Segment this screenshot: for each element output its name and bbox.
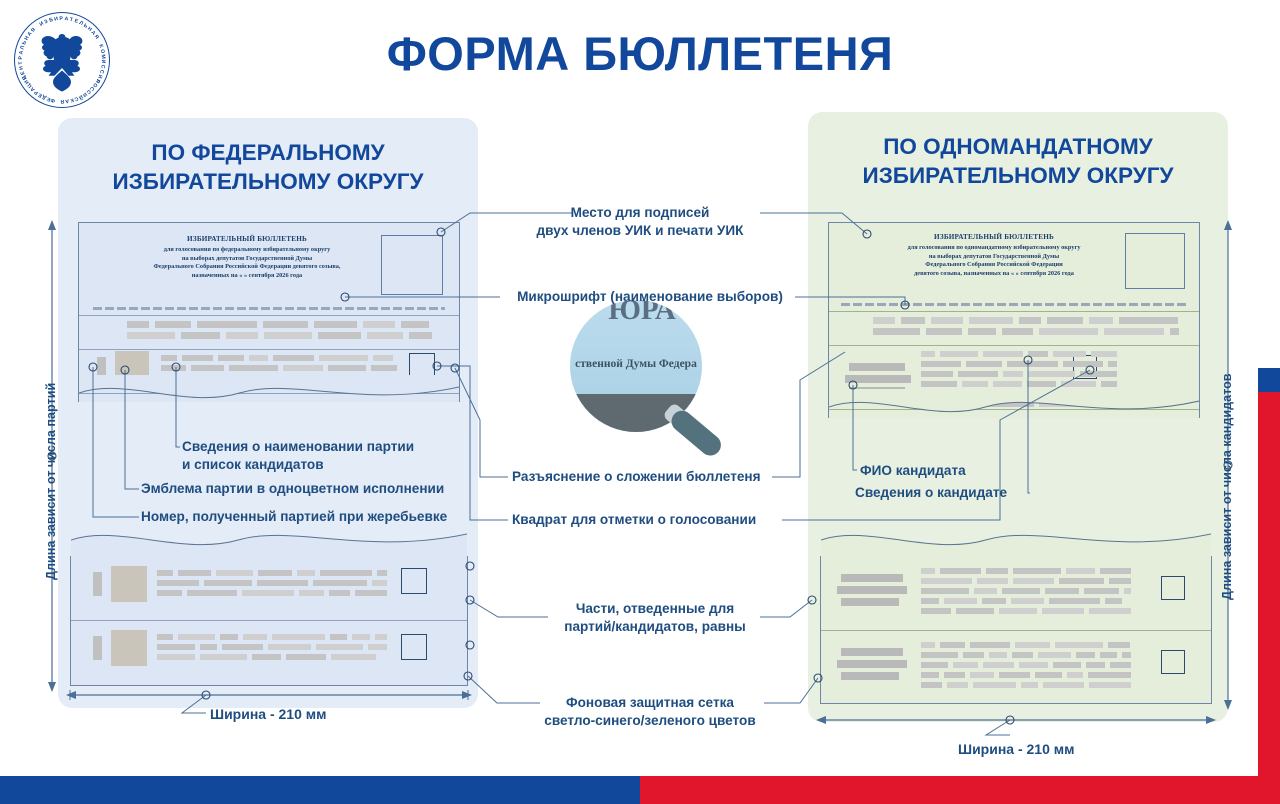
placeholder-text-bar xyxy=(373,355,393,361)
note-security-grid-line2: светло-синего/зеленого цветов xyxy=(525,712,775,730)
placeholder-text-bar xyxy=(372,580,387,586)
placeholder-text-bar xyxy=(1015,642,1050,648)
placeholder-text-bar xyxy=(944,672,965,678)
flag-stripe-right-blue xyxy=(1258,368,1280,394)
placeholder-text-bar xyxy=(1028,371,1075,377)
placeholder-text-bar xyxy=(311,375,364,381)
placeholder-text-bar xyxy=(331,654,376,660)
flag-stripe-red xyxy=(640,776,1280,804)
placeholder-text-bar xyxy=(231,375,284,381)
placeholder-text-bar xyxy=(940,568,981,574)
flag-stripe-right-red xyxy=(1258,392,1280,776)
placeholder-text-bar xyxy=(1104,328,1164,335)
placeholder-text-bar xyxy=(182,355,213,361)
magnifier-icon: ЮРА ственной Думы Федера xyxy=(570,300,730,460)
placeholder-text-bar xyxy=(940,642,965,648)
placeholder-text-bar xyxy=(242,590,294,596)
placeholder-text-bar xyxy=(197,321,257,328)
panel-right-title: ПО ОДНОМАНДАТНОМУ ИЗБИРАТЕЛЬНОМУ ОКРУГУ xyxy=(808,132,1228,190)
note-party-emblem: Эмблема партии в одноцветном исполнении xyxy=(141,480,481,498)
vote-square-candidate-3[interactable] xyxy=(1161,650,1185,674)
ballot-right-heading: ИЗБИРАТЕЛЬНЫЙ БЮЛЛЕТЕНЬ xyxy=(849,233,1139,241)
placeholder-text-bar xyxy=(157,580,199,586)
candidate-name-bar xyxy=(841,574,903,582)
placeholder-text-bar xyxy=(1100,652,1117,658)
placeholder-text-bar xyxy=(982,598,1006,604)
placeholder-text-bar xyxy=(921,672,939,678)
note-party-info-line1: Сведения о наименовании партии xyxy=(182,438,472,456)
placeholder-text-bar xyxy=(1021,682,1038,688)
placeholder-text-bar xyxy=(921,361,961,367)
placeholder-text-bar xyxy=(1039,328,1098,335)
note-folding: Разъяснение о сложении бюллетеня xyxy=(512,468,782,486)
placeholder-text-bar xyxy=(921,588,969,594)
placeholder-text-bar xyxy=(963,652,984,658)
note-security-grid-line1: Фоновая защитная сетка xyxy=(525,694,775,712)
placeholder-text-bar xyxy=(316,644,363,650)
panel-left-title: ПО ФЕДЕРАЛЬНОМУ ИЗБИРАТЕЛЬНОМУ ОКРУГУ xyxy=(58,138,478,196)
vote-square-candidate-2[interactable] xyxy=(1161,576,1185,600)
placeholder-text-bar xyxy=(355,590,387,596)
placeholder-text-bar xyxy=(947,682,968,688)
placeholder-text-bar xyxy=(1019,317,1041,324)
placeholder-text-bar xyxy=(921,598,939,604)
placeholder-text-bar xyxy=(157,654,195,660)
placeholder-text-bar xyxy=(1039,401,1076,407)
placeholder-text-bar xyxy=(1055,642,1103,648)
placeholder-text-bar xyxy=(1108,642,1130,648)
placeholder-text-bar xyxy=(1019,662,1048,668)
placeholder-text-bar xyxy=(1088,672,1131,678)
placeholder-text-bar xyxy=(1108,361,1117,367)
placeholder-text-bar xyxy=(1076,652,1095,658)
placeholder-text-bar xyxy=(1089,317,1113,324)
placeholder-text-bar xyxy=(319,355,368,361)
placeholder-text-bar xyxy=(962,381,988,387)
placeholder-text-bar xyxy=(352,634,370,640)
microtext-line-right xyxy=(841,303,1189,306)
placeholder-text-bar xyxy=(200,654,247,660)
ballot-right-heading-block: ИЗБИРАТЕЛЬНЫЙ БЮЛЛЕТЕНЬ для голосования … xyxy=(849,233,1139,278)
placeholder-text-bar xyxy=(1081,401,1117,407)
placeholder-text-bar xyxy=(157,570,173,576)
placeholder-text-bar xyxy=(229,365,278,371)
note-length-right: Длина зависит от числа кандидатов xyxy=(1220,373,1234,600)
placeholder-text-bar xyxy=(966,361,1002,367)
placeholder-text-bar xyxy=(283,365,323,371)
placeholder-text-bar xyxy=(1007,361,1058,367)
note-party-info: Сведения о наименовании партии и список … xyxy=(182,438,472,474)
placeholder-text-bar xyxy=(965,391,991,397)
party-number-bar-0 xyxy=(97,357,106,379)
ballot-left-sub1: для голосования по федеральному избирате… xyxy=(97,246,397,255)
placeholder-text-bar xyxy=(968,328,996,335)
placeholder-text-bar xyxy=(940,351,978,357)
placeholder-text-bar xyxy=(371,365,397,371)
placeholder-text-bar xyxy=(999,608,1037,614)
panel-right-title-line1: ПО ОДНОМАНДАТНОМУ xyxy=(808,132,1228,161)
placeholder-text-bar xyxy=(1012,652,1033,658)
placeholder-text-bar xyxy=(999,672,1030,678)
candidate-name-bar xyxy=(849,387,905,395)
placeholder-text-bar xyxy=(161,365,186,371)
placeholder-text-bar xyxy=(377,570,387,576)
placeholder-text-bar xyxy=(970,672,994,678)
candidate-name-bar xyxy=(837,660,907,668)
placeholder-text-bar xyxy=(985,401,1034,407)
ballot-left-sub4: назначенных на « » сентября 2026 года xyxy=(97,272,397,281)
placeholder-text-bar xyxy=(220,634,238,640)
ballot-federal-bottom xyxy=(70,556,468,686)
note-vote-square: Квадрат для отметки о голосовании xyxy=(512,511,788,529)
ballot-left-heading: ИЗБИРАТЕЛЬНЫЙ БЮЛЛЕТЕНЬ xyxy=(97,235,397,243)
placeholder-text-bar xyxy=(368,644,387,650)
flag-stripe-blue xyxy=(0,776,640,804)
placeholder-text-bar xyxy=(1119,317,1178,324)
placeholder-text-bar xyxy=(921,371,953,377)
placeholder-text-bar xyxy=(328,365,366,371)
placeholder-text-bar xyxy=(375,634,387,640)
placeholder-text-bar xyxy=(1105,598,1122,604)
placeholder-text-bar xyxy=(989,652,1007,658)
note-equal-parts: Части, отведенные для партий/кандидатов,… xyxy=(540,600,770,636)
placeholder-text-bar xyxy=(191,365,224,371)
note-width-right: Ширина - 210 мм xyxy=(958,740,1178,758)
magnified-text-small: ственной Думы Федера xyxy=(570,358,702,370)
placeholder-text-bar xyxy=(216,570,253,576)
party-emblem-1 xyxy=(111,566,147,602)
ballot-single-top: ИЗБИРАТЕЛЬНЫЙ БЮЛЛЕТЕНЬ для голосования … xyxy=(828,222,1200,418)
placeholder-text-bar xyxy=(1053,351,1086,357)
placeholder-text-bar xyxy=(367,332,403,339)
placeholder-text-bar xyxy=(222,644,263,650)
note-candidate-name: ФИО кандидата xyxy=(860,462,1100,480)
placeholder-text-bar xyxy=(157,644,195,650)
placeholder-text-bar xyxy=(257,580,308,586)
note-equal-parts-line1: Части, отведенные для xyxy=(540,600,770,618)
page-title: ФОРМА БЮЛЛЕТЕНЯ xyxy=(0,26,1280,81)
note-candidate-info: Сведения о кандидате xyxy=(855,484,1095,502)
placeholder-text-bar xyxy=(178,570,211,576)
uik-signature-box xyxy=(381,235,443,295)
placeholder-text-bar xyxy=(409,332,432,339)
placeholder-text-bar xyxy=(931,317,963,324)
placeholder-text-bar xyxy=(956,608,994,614)
candidate-name-bar xyxy=(841,648,903,656)
candidate-name-bar xyxy=(841,672,899,680)
party-emblem-0 xyxy=(115,351,149,385)
placeholder-text-bar xyxy=(921,652,958,658)
placeholder-text-bar xyxy=(901,317,925,324)
panel-left-title-line1: ПО ФЕДЕРАЛЬНОМУ xyxy=(58,138,478,167)
placeholder-text-bar xyxy=(178,634,215,640)
placeholder-text-bar xyxy=(996,391,1020,397)
placeholder-text-bar xyxy=(1038,652,1071,658)
placeholder-text-bar xyxy=(289,375,306,381)
note-security-grid: Фоновая защитная сетка светло-синего/зел… xyxy=(525,694,775,730)
placeholder-text-bar xyxy=(921,642,935,648)
ballot-federal-top: ИЗБИРАТЕЛЬНЫЙ БЮЛЛЕТЕНЬ для голосования … xyxy=(78,222,460,402)
placeholder-text-bar xyxy=(252,654,281,660)
placeholder-text-bar xyxy=(263,321,308,328)
flag-stripe-bottom xyxy=(0,776,1280,804)
placeholder-text-bar xyxy=(218,355,244,361)
placeholder-text-bar xyxy=(921,682,942,688)
placeholder-text-bar xyxy=(921,662,948,668)
placeholder-text-bar xyxy=(200,644,217,650)
placeholder-text-bar xyxy=(401,321,429,328)
placeholder-text-bar xyxy=(258,570,292,576)
ballot-single-bottom xyxy=(820,556,1212,704)
placeholder-text-bar xyxy=(1089,608,1131,614)
placeholder-text-bar xyxy=(313,580,367,586)
party-emblem-2 xyxy=(111,630,147,666)
placeholder-text-bar xyxy=(1061,381,1096,387)
placeholder-text-bar xyxy=(1035,672,1062,678)
placeholder-text-bar xyxy=(161,355,177,361)
placeholder-text-bar xyxy=(921,401,938,407)
placeholder-text-bar xyxy=(1084,588,1119,594)
note-signatures-line2: двух членов УИК и печати УИК xyxy=(510,222,770,240)
vote-square-1[interactable] xyxy=(401,568,427,594)
placeholder-text-bar xyxy=(187,375,226,381)
placeholder-text-bar xyxy=(1067,672,1083,678)
placeholder-text-bar xyxy=(926,328,962,335)
placeholder-text-bar xyxy=(299,590,324,596)
ballot-right-sub2: на выборах депутатов Государственной Дум… xyxy=(849,253,1139,262)
placeholder-text-bar xyxy=(993,381,1022,387)
placeholder-text-bar xyxy=(181,332,220,339)
placeholder-text-bar xyxy=(953,662,978,668)
placeholder-text-bar xyxy=(1013,568,1061,574)
placeholder-text-bar xyxy=(1028,351,1048,357)
placeholder-text-bar xyxy=(873,328,920,335)
placeholder-text-bar xyxy=(921,351,935,357)
placeholder-text-bar xyxy=(127,321,149,328)
placeholder-text-bar xyxy=(264,332,312,339)
ballot-left-sub2: на выборах депутатов Государственной Дум… xyxy=(97,255,397,264)
note-party-number: Номер, полученный партией при жеребьевке xyxy=(141,508,481,526)
placeholder-text-bar xyxy=(921,568,935,574)
placeholder-text-bar xyxy=(318,332,361,339)
placeholder-text-bar xyxy=(204,580,252,586)
party-number-bar-2 xyxy=(93,636,102,660)
placeholder-text-bar xyxy=(1066,568,1095,574)
placeholder-text-bar xyxy=(273,355,314,361)
placeholder-text-bar xyxy=(286,654,326,660)
placeholder-text-bar xyxy=(1089,682,1131,688)
placeholder-text-bar xyxy=(1063,361,1103,367)
placeholder-text-bar xyxy=(243,634,267,640)
placeholder-text-bar xyxy=(268,644,311,650)
placeholder-text-bar xyxy=(1053,662,1081,668)
placeholder-text-bar xyxy=(1170,328,1179,335)
candidate-name-bar xyxy=(837,586,907,594)
placeholder-text-bar xyxy=(157,590,182,596)
placeholder-text-bar xyxy=(1045,588,1079,594)
placeholder-text-bar xyxy=(944,598,977,604)
note-equal-parts-line2: партий/кандидатов, равны xyxy=(540,618,770,636)
placeholder-text-bar xyxy=(1091,351,1117,357)
placeholder-text-bar xyxy=(1002,588,1040,594)
placeholder-text-bar xyxy=(314,321,357,328)
placeholder-text-bar xyxy=(1086,662,1105,668)
placeholder-text-bar xyxy=(873,317,895,324)
placeholder-text-bar xyxy=(249,355,268,361)
placeholder-text-bar xyxy=(329,590,350,596)
vote-square-2[interactable] xyxy=(401,634,427,660)
placeholder-text-bar xyxy=(155,321,191,328)
note-width-left: Ширина - 210 мм xyxy=(210,705,430,723)
note-signatures-line1: Место для подписей xyxy=(510,204,770,222)
panel-left-title-line2: ИЗБИРАТЕЛЬНОМУ ОКРУГУ xyxy=(58,167,478,196)
placeholder-text-bar xyxy=(921,381,957,387)
placeholder-text-bar xyxy=(187,590,237,596)
placeholder-text-bar xyxy=(1043,682,1084,688)
placeholder-text-bar xyxy=(958,371,998,377)
ballot-left-heading-block: ИЗБИРАТЕЛЬНЫЙ БЮЛЛЕТЕНЬ для голосования … xyxy=(97,235,397,280)
placeholder-text-bar xyxy=(1124,588,1131,594)
placeholder-text-bar xyxy=(1042,608,1084,614)
placeholder-text-bar xyxy=(1080,371,1117,377)
placeholder-text-bar xyxy=(921,608,951,614)
placeholder-text-bar xyxy=(983,662,1014,668)
placeholder-text-bar xyxy=(1027,381,1056,387)
placeholder-text-bar xyxy=(1003,371,1023,377)
note-signatures: Место для подписей двух членов УИК и печ… xyxy=(510,204,770,240)
placeholder-text-bar xyxy=(363,321,395,328)
placeholder-text-bar xyxy=(1047,317,1083,324)
placeholder-text-bar xyxy=(983,351,1023,357)
note-length-left: Длина зависит от числа партий xyxy=(44,383,58,580)
placeholder-text-bar xyxy=(1110,662,1131,668)
microtext-line xyxy=(93,307,445,310)
placeholder-text-bar xyxy=(1109,578,1131,584)
placeholder-text-bar xyxy=(161,375,182,381)
placeholder-text-bar xyxy=(1122,652,1131,658)
panel-right-title-line2: ИЗБИРАТЕЛЬНОМУ ОКРУГУ xyxy=(808,161,1228,190)
placeholder-text-bar xyxy=(297,570,315,576)
placeholder-text-bar xyxy=(1101,381,1117,387)
placeholder-text-bar xyxy=(969,317,1013,324)
placeholder-text-bar xyxy=(272,634,325,640)
placeholder-text-bar xyxy=(921,391,960,397)
placeholder-text-bar xyxy=(1002,328,1033,335)
uik-signature-box-right xyxy=(1125,233,1185,289)
ballot-right-sub4: девятого созыва, назначенных на « » сент… xyxy=(849,270,1139,279)
placeholder-text-bar xyxy=(1100,568,1131,574)
placeholder-text-bar xyxy=(970,642,1010,648)
ballot-right-sub3: Федерального Собрания Российской Федерац… xyxy=(849,261,1139,270)
placeholder-text-bar xyxy=(157,634,173,640)
placeholder-text-bar xyxy=(1049,598,1100,604)
note-party-info-line2: и список кандидатов xyxy=(182,456,472,474)
placeholder-text-bar xyxy=(127,332,175,339)
placeholder-text-bar xyxy=(977,578,1008,584)
candidate-name-bar xyxy=(841,598,899,606)
ballot-left-sub3: Федерального Собрания Российской Федерац… xyxy=(97,263,397,272)
placeholder-text-bar xyxy=(226,332,258,339)
candidate-name-bar xyxy=(849,363,905,371)
placeholder-text-bar xyxy=(369,375,397,381)
note-microfont: Микрошрифт (наименование выборов) xyxy=(500,288,800,306)
candidate-name-bar xyxy=(845,375,911,383)
placeholder-text-bar xyxy=(320,570,372,576)
placeholder-text-bar xyxy=(1059,578,1104,584)
placeholder-text-bar xyxy=(973,682,1016,688)
vote-square-0[interactable] xyxy=(409,353,435,379)
placeholder-text-bar xyxy=(1025,391,1052,397)
ballot-right-sub1: для голосования по одномандатному избира… xyxy=(849,244,1139,253)
placeholder-text-bar xyxy=(943,401,980,407)
placeholder-text-bar xyxy=(921,578,972,584)
party-number-bar-1 xyxy=(93,572,102,596)
placeholder-text-bar xyxy=(1013,578,1054,584)
placeholder-text-bar xyxy=(1011,598,1044,604)
placeholder-text-bar xyxy=(986,568,1008,574)
placeholder-text-bar xyxy=(974,588,997,594)
placeholder-text-bar xyxy=(1057,391,1106,397)
placeholder-text-bar xyxy=(330,634,347,640)
